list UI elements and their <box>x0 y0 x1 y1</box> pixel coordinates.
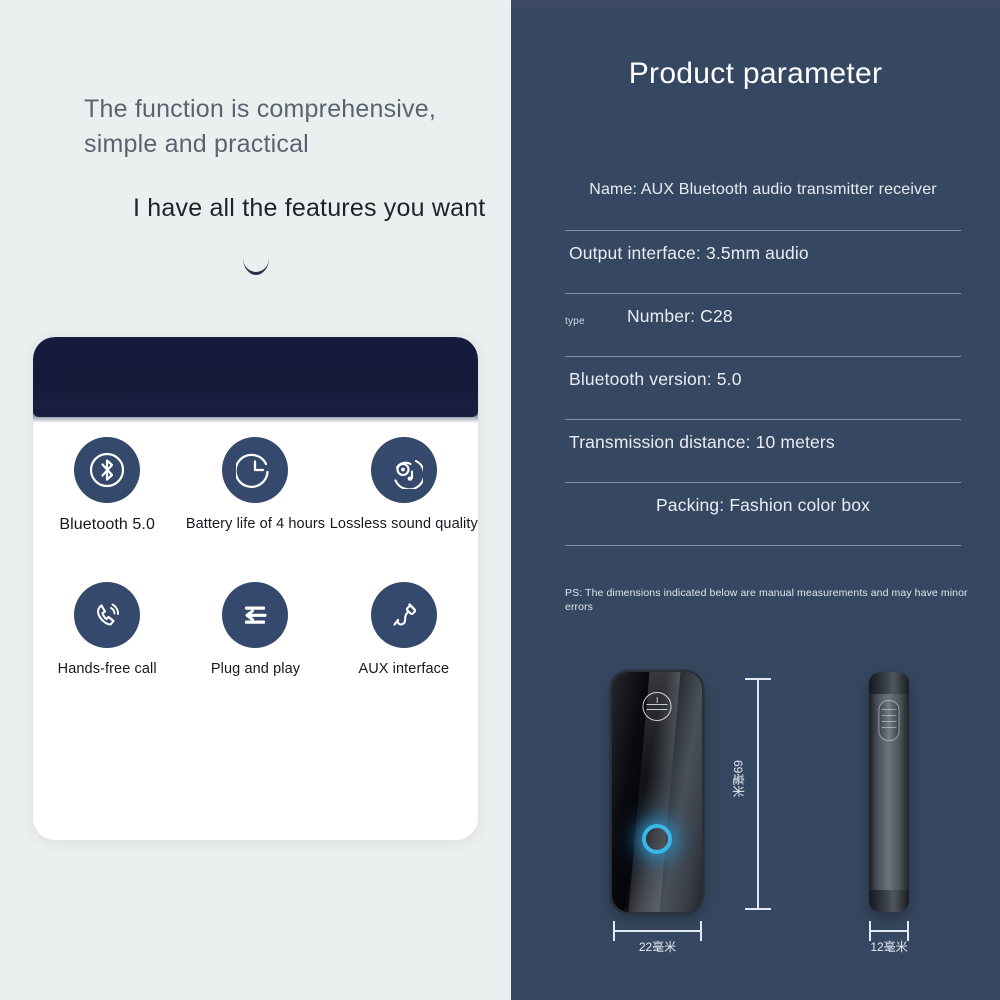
headline: The function is comprehensive, simple an… <box>84 92 504 162</box>
depth-dimension-line <box>869 930 909 932</box>
feature-card: Bluetooth 5.0 Battery life of 4 hours <box>33 337 478 840</box>
spec-text: Name: AUX Bluetooth audio transmitter re… <box>565 168 961 212</box>
device-cap-top <box>869 672 909 694</box>
height-dimension-line <box>757 678 759 910</box>
spec-divider <box>565 545 961 546</box>
ps-note: PS: The dimensions indicated below are m… <box>565 586 985 614</box>
panel-title: Product parameter <box>511 57 1000 91</box>
feature-item: Bluetooth 5.0 <box>33 437 181 534</box>
feature-label: Bluetooth 5.0 <box>59 516 155 534</box>
feature-label: Plug and play <box>211 661 300 677</box>
spec-row: type Number: C28 <box>565 294 961 357</box>
spec-row: Packing: Fashion color box <box>565 483 961 546</box>
feature-item: Hands-free call <box>33 582 181 677</box>
feature-grid: Bluetooth 5.0 Battery life of 4 hours <box>33 437 478 677</box>
spec-text: Transmission distance: 10 meters <box>565 420 965 464</box>
spec-text: Packing: Fashion color box <box>565 483 961 527</box>
width-dimension-label: 22毫米 <box>613 938 702 955</box>
spec-panel: Product parameter Name: AUX Bluetooth au… <box>511 0 1000 1000</box>
plug-arrow-icon <box>222 582 288 648</box>
speaker-grille-icon <box>643 692 672 721</box>
feature-label: Battery life of 4 hours <box>186 516 325 532</box>
phone-call-icon <box>74 582 140 648</box>
belt-clip <box>879 700 900 741</box>
clock-icon <box>222 437 288 503</box>
aux-cable-icon <box>371 582 437 648</box>
spec-text: Number: C28 <box>565 294 1000 338</box>
feature-item: Plug and play <box>181 582 329 677</box>
subheadline: I have all the features you want <box>133 192 533 224</box>
product-photo-band <box>33 337 478 417</box>
feature-label: Hands-free call <box>58 661 157 677</box>
feature-label: Lossless sound quality <box>330 516 478 532</box>
spec-row: Name: AUX Bluetooth audio transmitter re… <box>565 168 961 231</box>
spec-row: Bluetooth version: 5.0 <box>565 357 961 420</box>
depth-dimension-label: 12毫米 <box>849 938 929 955</box>
spec-text: Output interface: 3.5mm audio <box>565 231 965 275</box>
spec-list: Name: AUX Bluetooth audio transmitter re… <box>565 168 961 546</box>
bluetooth-icon <box>74 437 140 503</box>
feature-item: AUX interface <box>330 582 478 677</box>
feature-label: AUX interface <box>358 661 449 677</box>
panel-top-strip <box>511 0 1000 9</box>
device-side-photo <box>869 672 909 912</box>
width-dimension-line <box>613 930 702 932</box>
spec-row: Output interface: 3.5mm audio <box>565 231 961 294</box>
device-front-photo <box>612 672 702 912</box>
vinyl-music-icon <box>371 437 437 503</box>
spec-text: Bluetooth version: 5.0 <box>565 357 965 401</box>
product-infographic: The function is comprehensive, simple an… <box>0 0 1000 1000</box>
feature-item: Lossless sound quality <box>330 437 478 534</box>
led-indicator <box>642 824 672 854</box>
spec-row: Transmission distance: 10 meters <box>565 420 961 483</box>
height-dimension-label: 69毫米 <box>730 760 747 797</box>
device-cap-bottom <box>869 890 909 912</box>
feature-item: Battery life of 4 hours <box>181 437 329 534</box>
